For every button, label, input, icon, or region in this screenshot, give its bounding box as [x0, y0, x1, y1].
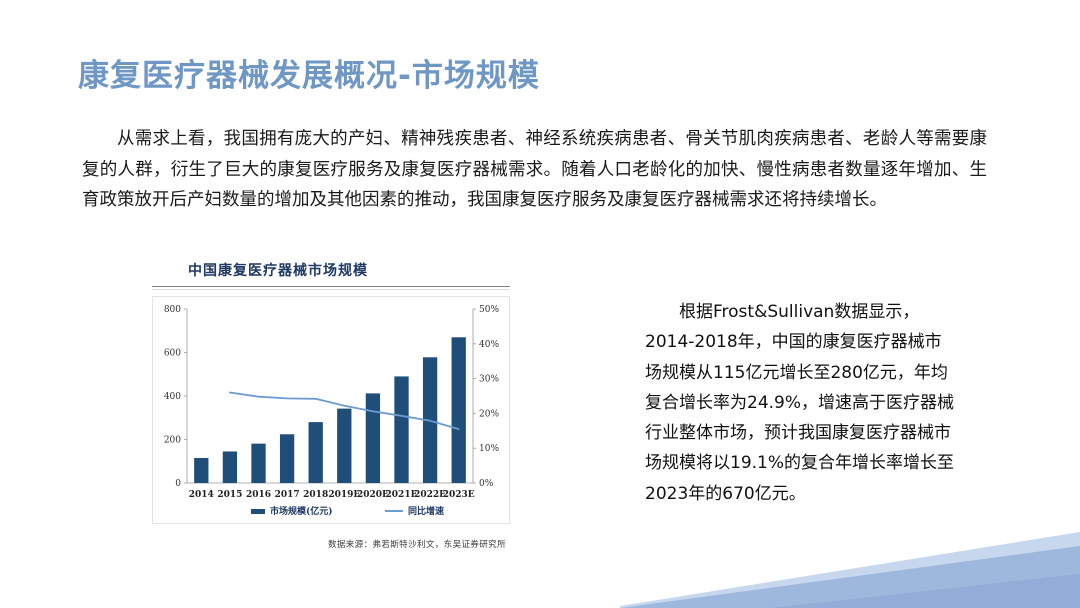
page-title: 康复医疗器械发展概况-市场规模	[78, 50, 540, 95]
svg-text:2022E: 2022E	[414, 490, 446, 500]
chart-source-note: 数据来源：弗若斯特沙利文，东吴证券研究所	[152, 538, 510, 550]
intro-paragraph: 从需求上看，我国拥有庞大的产妇、精神残疾患者、神经系统疾病患者、骨关节肌肉疾病患…	[82, 124, 987, 216]
chart-card: 中国康复医疗器械市场规模 02004006008000%10%20%30%40%…	[152, 258, 510, 563]
svg-text:2023E: 2023E	[443, 490, 475, 500]
chart-title: 中国康复医疗器械市场规模	[152, 258, 510, 280]
commentary-paragraph: 根据Frost&Sullivan数据显示，2014-2018年，中国的康复医疗器…	[645, 297, 955, 509]
chart-title-divider	[152, 286, 510, 290]
svg-text:2014: 2014	[189, 490, 214, 500]
svg-text:2015: 2015	[217, 490, 242, 500]
svg-text:0: 0	[175, 479, 181, 489]
svg-text:2018: 2018	[303, 490, 328, 500]
svg-text:2016: 2016	[246, 490, 271, 500]
svg-text:200: 200	[164, 436, 181, 446]
svg-text:20%: 20%	[479, 409, 499, 419]
svg-text:2021E: 2021E	[386, 490, 418, 500]
slide-canvas: 康复医疗器械发展概况-市场规模 从需求上看，我国拥有庞大的产妇、精神残疾患者、神…	[0, 0, 1080, 608]
svg-text:40%: 40%	[479, 340, 499, 350]
svg-text:2017: 2017	[275, 490, 300, 500]
svg-text:600: 600	[164, 349, 181, 359]
svg-text:800: 800	[164, 305, 181, 315]
svg-text:0%: 0%	[479, 479, 494, 489]
svg-text:50%: 50%	[479, 305, 499, 315]
svg-text:同比增速: 同比增速	[408, 505, 444, 517]
svg-text:30%: 30%	[479, 375, 499, 385]
chart-plot-frame: 02004006008000%10%20%30%40%50%2014201520…	[152, 296, 510, 524]
svg-text:2020E: 2020E	[357, 490, 389, 500]
svg-text:市场规模(亿元): 市场规模(亿元)	[270, 505, 333, 517]
svg-text:10%: 10%	[479, 444, 499, 454]
svg-text:400: 400	[164, 392, 181, 402]
market-size-chart: 02004006008000%10%20%30%40%50%2014201520…	[153, 297, 509, 523]
svg-text:2019E: 2019E	[328, 490, 360, 500]
